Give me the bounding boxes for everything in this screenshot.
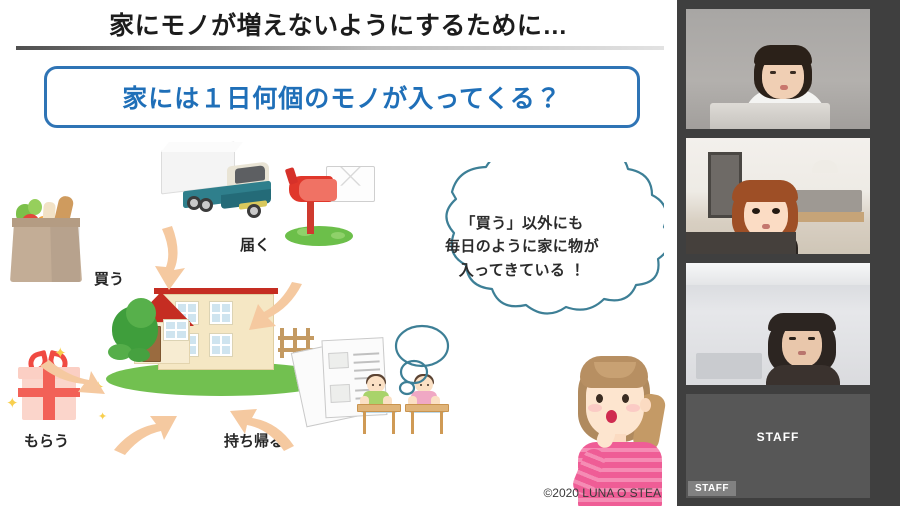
sparkle-icon: ✦: [92, 380, 105, 395]
participant-video-panel: STAFF STAFF: [677, 0, 900, 506]
participant-name-badge: STAFF: [688, 481, 736, 496]
sparkle-icon: ✦: [6, 396, 19, 411]
delivery-truck-icon: [161, 142, 276, 222]
label-receive: もらう: [24, 430, 69, 451]
shared-slide[interactable]: 家にモノが増えないようにするために… 家には１日何個のモノが入ってくる？ 買う: [0, 0, 677, 506]
thought-bubble-text: 「買う」以外にも 毎日のように家に物が 入ってきている ！: [380, 212, 664, 282]
participant-tile-4[interactable]: STAFF STAFF: [686, 394, 870, 498]
sparkle-icon: ✦: [54, 346, 67, 361]
background-ceiling: [686, 263, 870, 285]
sparkle-icon: ✦: [98, 412, 107, 423]
thinking-woman-illustration: [564, 350, 674, 506]
label-deliver: 届く: [240, 234, 270, 255]
thought-bubble: 「買う」以外にも 毎日のように家に物が 入ってきている ！: [380, 162, 664, 332]
mailbox-icon: [285, 166, 357, 252]
participant-tile-2[interactable]: [686, 138, 870, 254]
laptop-foreground: [696, 353, 762, 379]
label-bring-home: 持ち帰る: [224, 430, 284, 451]
screen-share-window: 家にモノが増えないようにするために… 家には１日何個のモノが入ってくる？ 買う: [0, 0, 900, 506]
foreground-monitor: [686, 232, 796, 254]
participant-tile-3[interactable]: [686, 263, 870, 385]
participant-tile-1[interactable]: [686, 9, 870, 129]
gift-box-icon: [12, 352, 88, 426]
participant-video-3: [760, 313, 846, 385]
thought-bubble-tails: [380, 320, 500, 410]
grocery-bag-icon: [10, 196, 82, 282]
slide-title: 家にモノが増えないようにするために…: [2, 6, 675, 42]
illustration-area: 買う 届く: [2, 134, 677, 506]
question-box-text: 家には１日何個のモノが入ってくる？: [122, 79, 562, 115]
background-lamp: [812, 160, 838, 173]
question-box: 家には１日何個のモノが入ってくる？: [44, 66, 640, 128]
participant-placeholder-label: STAFF: [686, 430, 870, 444]
slide-canvas: 家にモノが増えないようにするために… 家には１日何個のモノが入ってくる？ 買う: [2, 2, 675, 504]
title-divider: [16, 46, 664, 50]
copyright-notice: ©2020 LUNA O STEA: [543, 486, 661, 500]
laptop-foreground: [710, 103, 830, 129]
